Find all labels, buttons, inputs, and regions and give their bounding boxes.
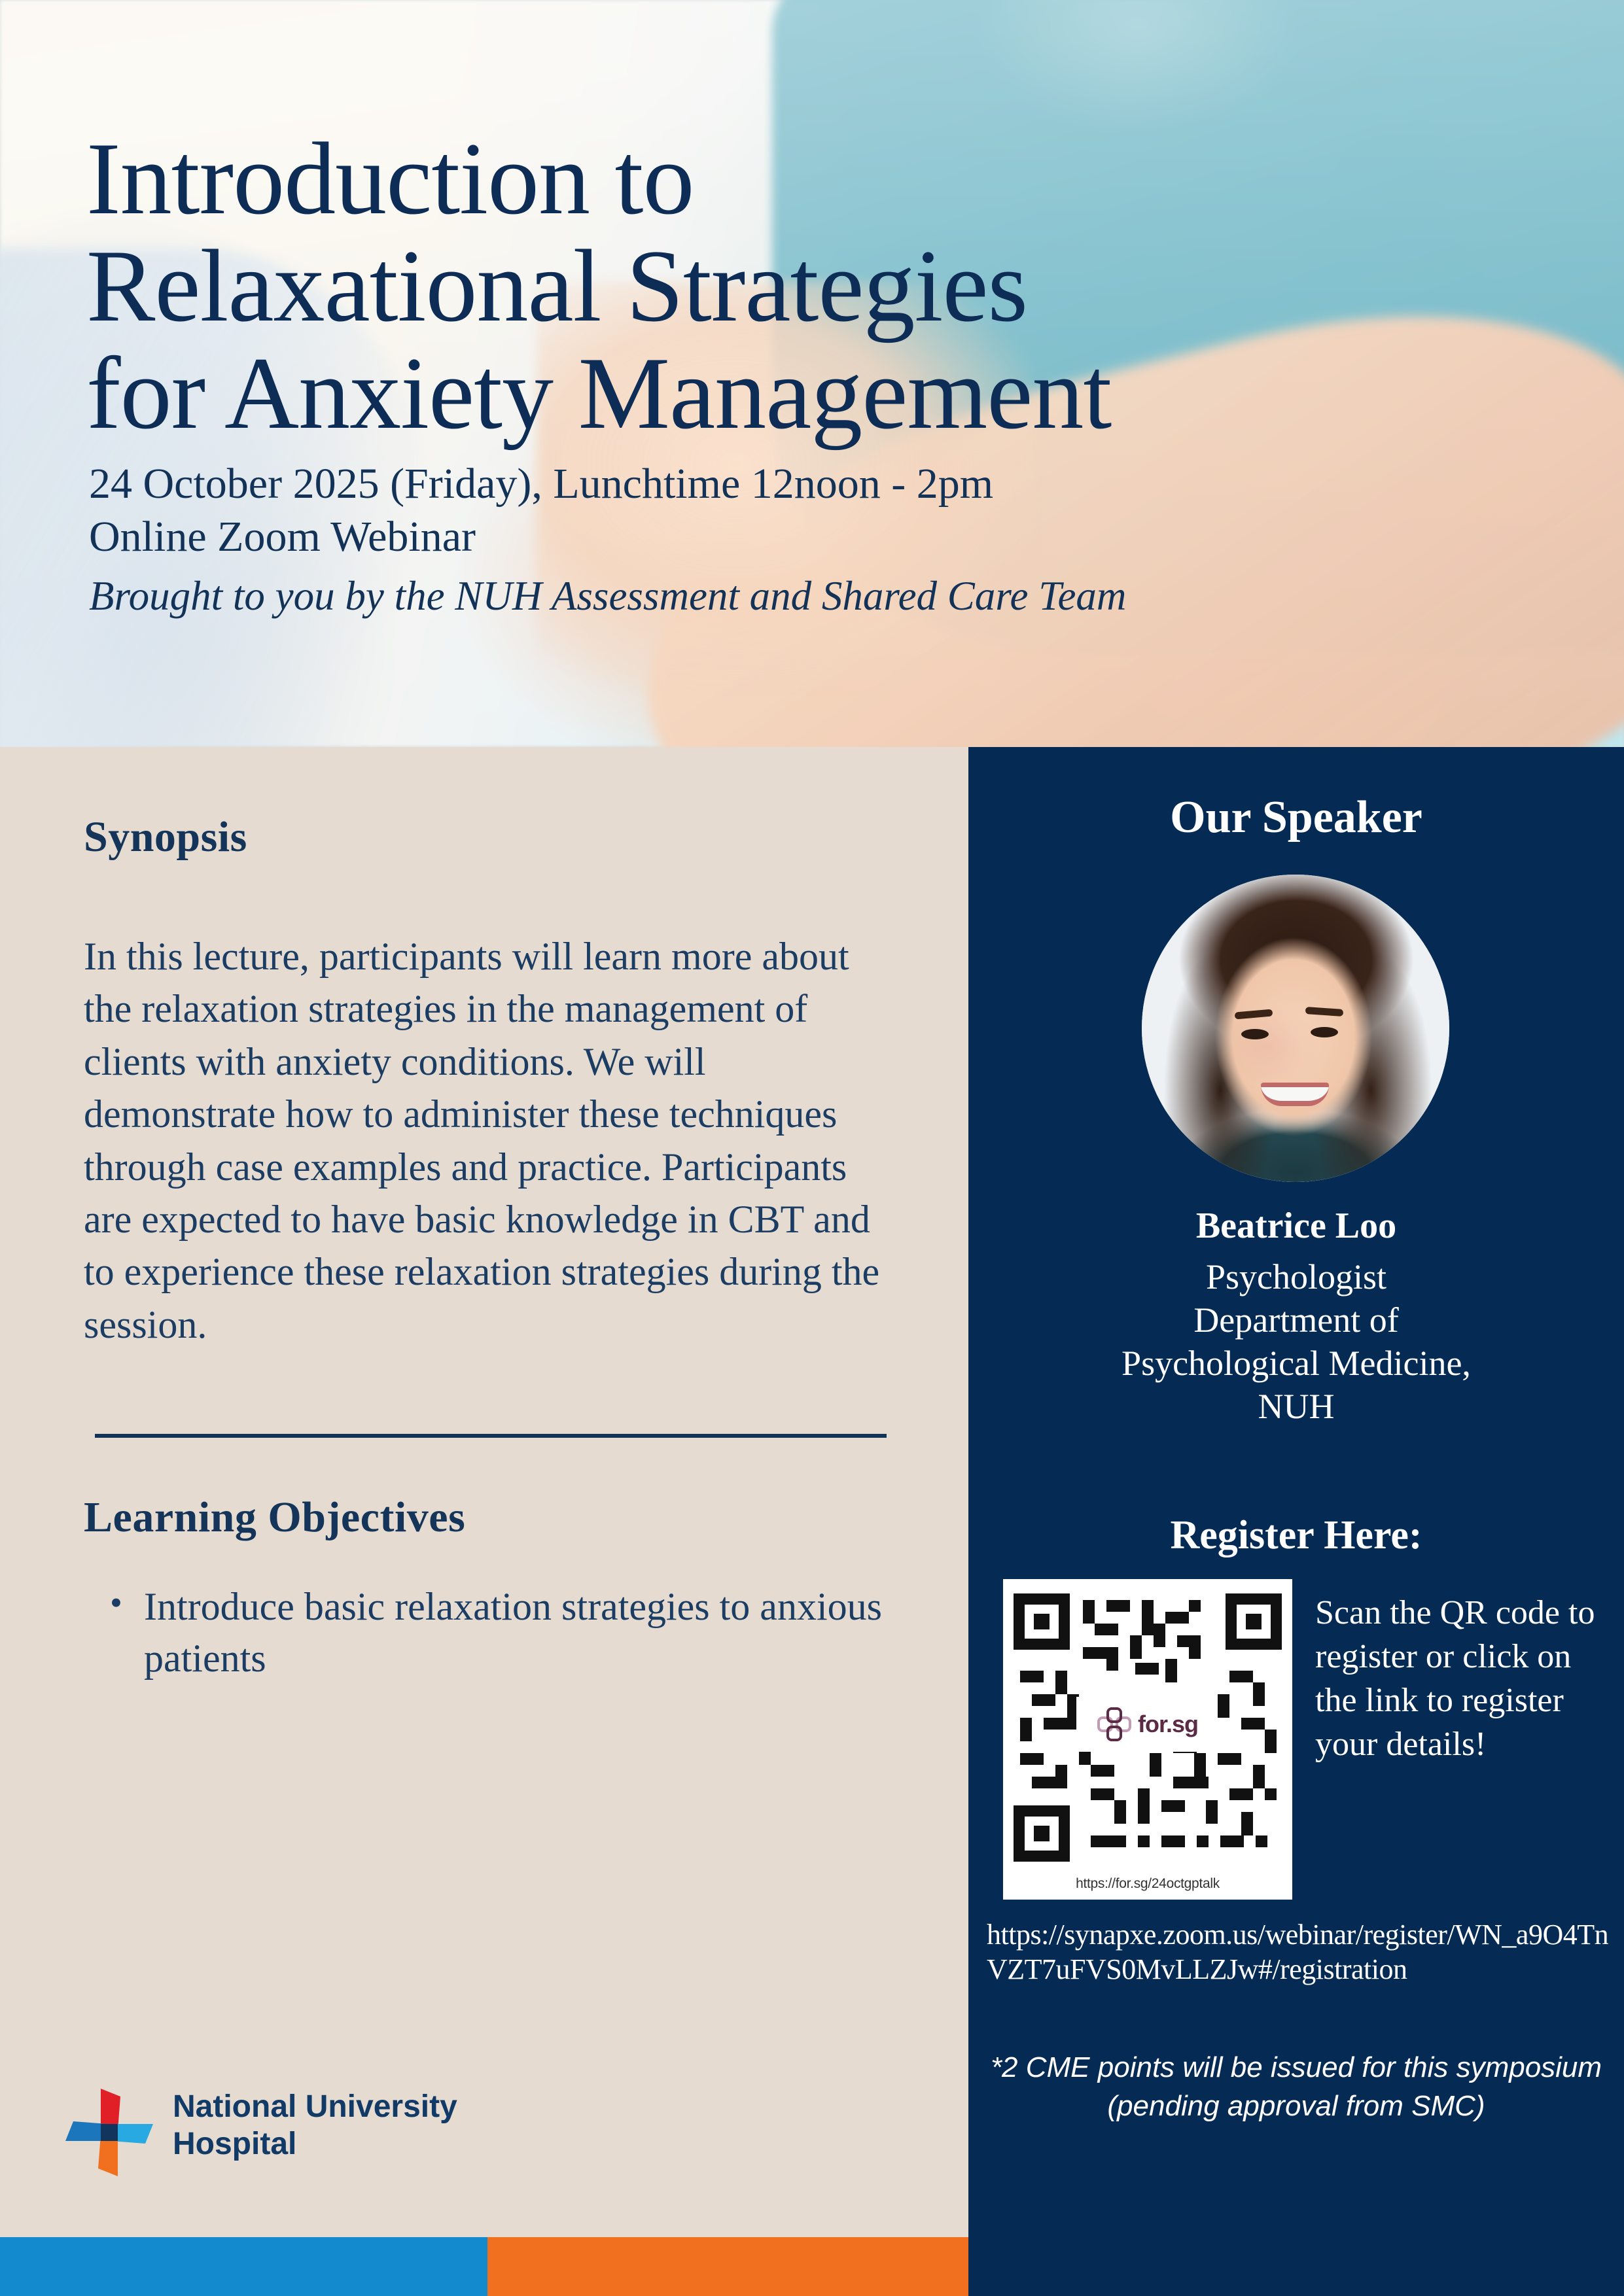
forsg-cross-icon: [1096, 1706, 1133, 1743]
avatar-mouth: [1261, 1083, 1329, 1106]
avatar: [1142, 875, 1449, 1182]
cme-note-line-2: (pending approval from SMC): [981, 2087, 1611, 2126]
qr-center-logo: for.sg: [1076, 1697, 1218, 1752]
qr-code-matrix: for.sg: [1014, 1593, 1282, 1862]
page-title-line-3: for Anxiety Management: [86, 340, 1565, 447]
registration-link[interactable]: https://synapxe.zoom.us/webinar/register…: [987, 1918, 1615, 1987]
page-title: Introduction to Relaxational Strategies …: [86, 126, 1565, 448]
objectives-heading: Learning Objectives: [84, 1493, 465, 1542]
event-date-time: 24 October 2025 (Friday), Lunchtime 12no…: [89, 458, 1528, 511]
nuh-logo-wordmark: National University Hospital: [173, 2089, 457, 2163]
scan-instructions: Scan the QR code to register or click on…: [1315, 1591, 1603, 1766]
page-title-line-1: Introduction to: [86, 126, 1565, 233]
register-heading: Register Here:: [968, 1512, 1624, 1559]
page-title-line-2: Relaxational Strategies: [86, 233, 1565, 340]
qr-caption-url: https://for.sg/24octgptalk: [1003, 1876, 1292, 1892]
speaker-role-line-3: Psychological Medicine,: [995, 1342, 1598, 1385]
forsg-logo-text: for.sg: [1138, 1711, 1198, 1738]
synopsis-heading: Synopsis: [84, 812, 247, 862]
objectives-list: Introduce basic relaxation strategies to…: [98, 1581, 890, 1684]
cme-note: *2 CME points will be issued for this sy…: [981, 2049, 1611, 2126]
nuh-logo-line-1: National University: [173, 2089, 457, 2126]
right-sidebar-panel: Our Speaker Beatrice Loo Psychologist De…: [968, 747, 1624, 2296]
left-content-panel: Synopsis In this lecture, participants w…: [0, 747, 968, 2237]
footer-bar-blue: [0, 2237, 487, 2296]
event-details: 24 October 2025 (Friday), Lunchtime 12no…: [89, 458, 1528, 623]
event-venue: Online Zoom Webinar: [89, 511, 1528, 564]
poster-root: Introduction to Relaxational Strategies …: [0, 0, 1624, 2296]
speaker-heading: Our Speaker: [968, 791, 1624, 844]
footer-bar-orange: [487, 2237, 968, 2296]
speaker-role-line-4: NUH: [995, 1385, 1598, 1429]
event-organiser: Brought to you by the NUH Assessment and…: [89, 570, 1528, 623]
nuh-logo-line-2: Hospital: [173, 2126, 457, 2163]
qr-code[interactable]: for.sg https://for.sg/24octgptalk: [1003, 1579, 1292, 1900]
speaker-role-line-2: Department of: [995, 1299, 1598, 1342]
cme-note-line-1: *2 CME points will be issued for this sy…: [981, 2049, 1611, 2087]
section-divider: [95, 1434, 887, 1438]
speaker-role-line-1: Psychologist: [995, 1256, 1598, 1299]
qr-finder-bottom-left: [1014, 1805, 1070, 1862]
synopsis-text: In this lecture, participants will learn…: [84, 930, 902, 1351]
hero-banner: Introduction to Relaxational Strategies …: [0, 0, 1624, 747]
nuh-logo: National University Hospital: [60, 2077, 518, 2188]
list-item: Introduce basic relaxation strategies to…: [144, 1581, 890, 1684]
avatar-portrait: [1142, 875, 1449, 1182]
speaker-role: Psychologist Department of Psychological…: [995, 1256, 1598, 1429]
qr-finder-top-right: [1226, 1593, 1282, 1650]
nuh-pinwheel-icon: [60, 2083, 158, 2182]
qr-finder-top-left: [1014, 1593, 1070, 1650]
avatar-eye-right: [1311, 1027, 1338, 1037]
avatar-eye-left: [1241, 1029, 1269, 1039]
speaker-name: Beatrice Loo: [968, 1205, 1624, 1247]
